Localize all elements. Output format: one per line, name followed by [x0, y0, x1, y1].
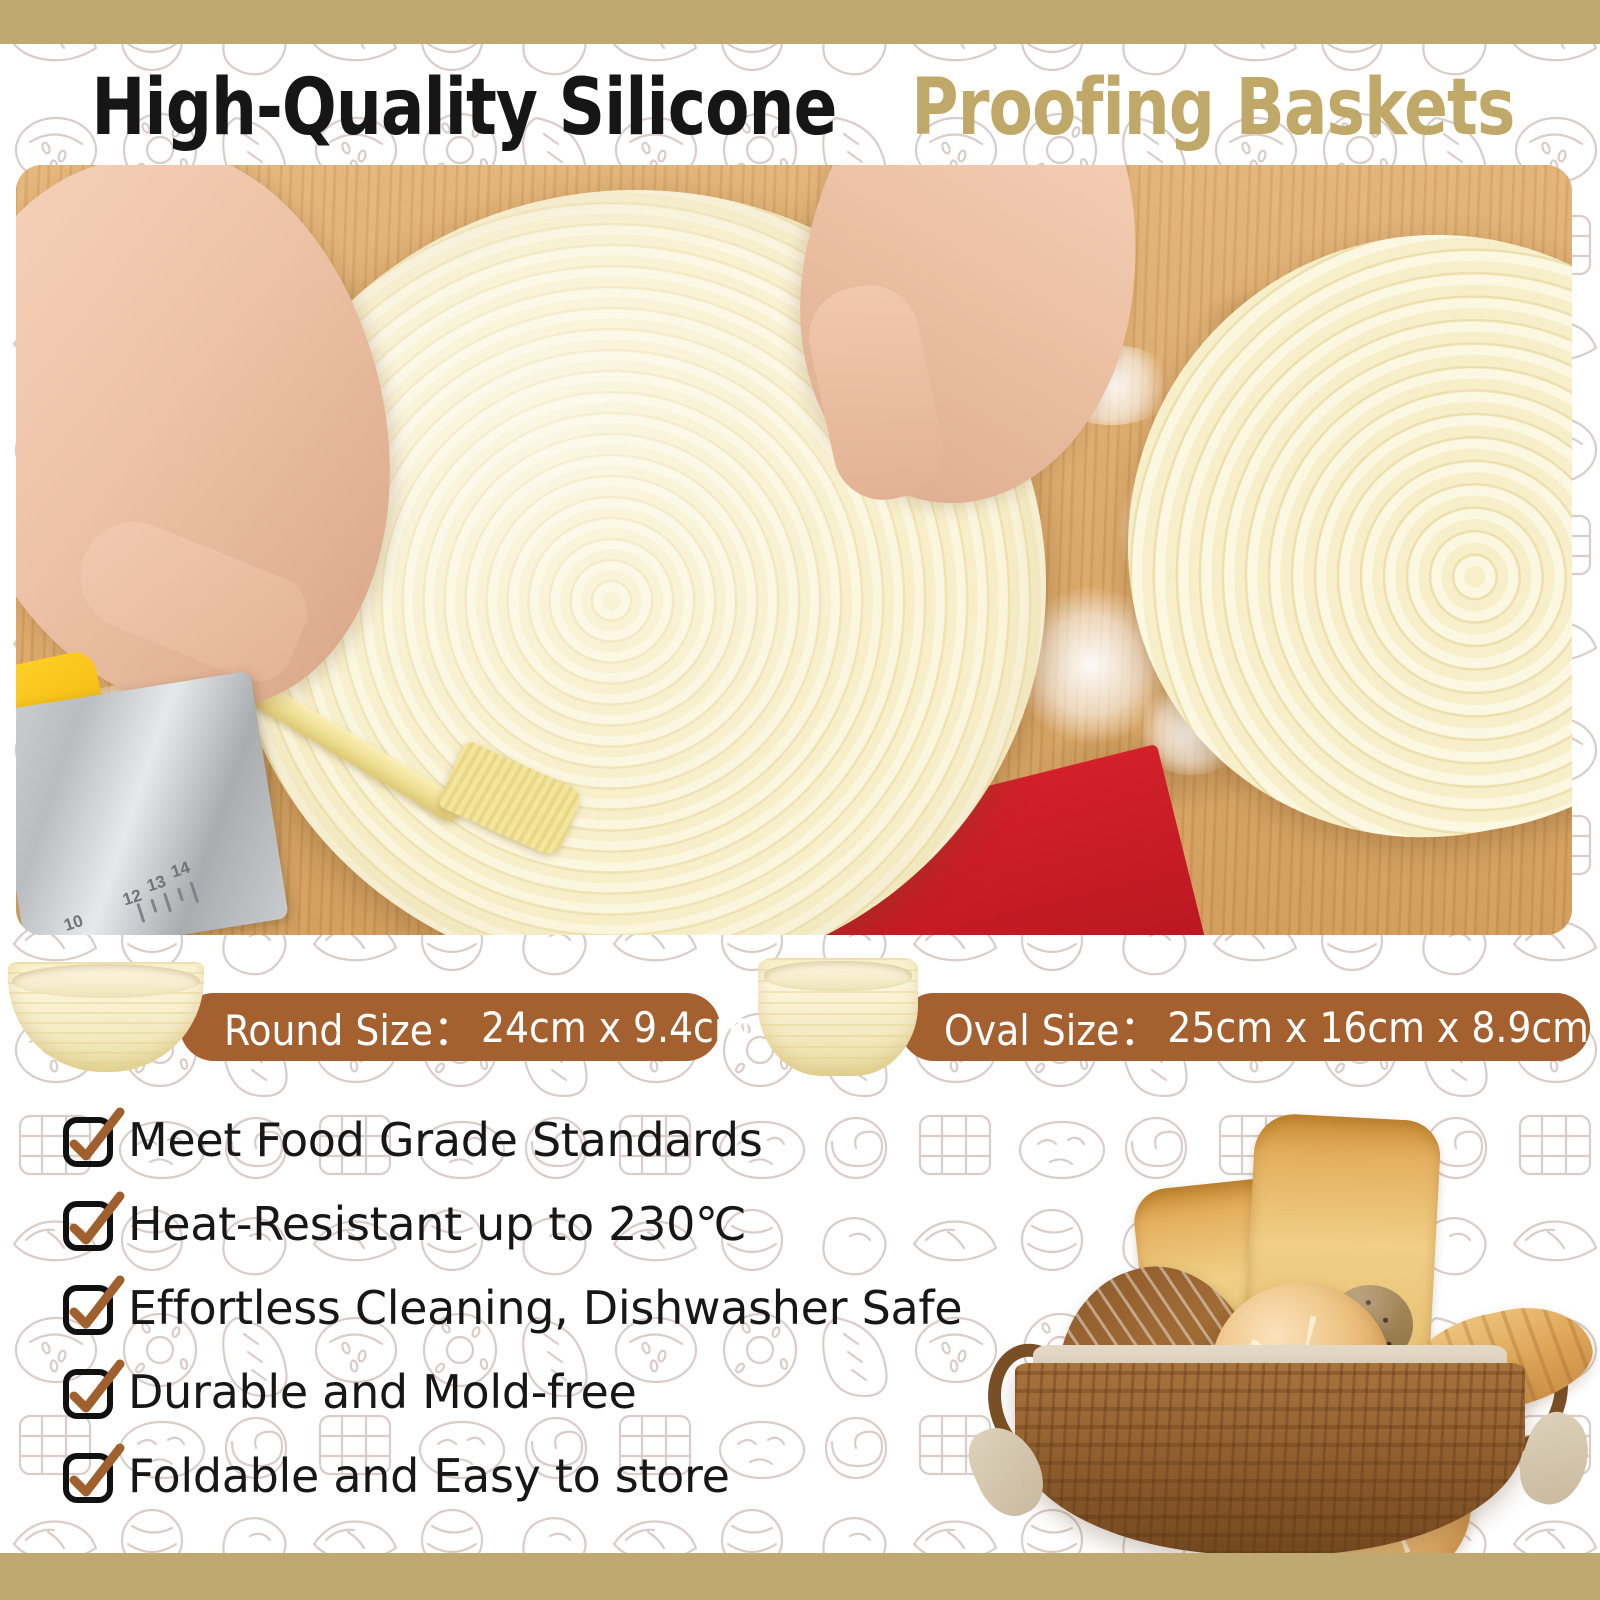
feature-item: Heat-Resistant up to 230℃: [62, 1182, 1022, 1266]
oval-size-label: Oval Size：: [944, 997, 1161, 1058]
round-size-label: Round Size：: [224, 997, 475, 1058]
title-accent: Proofing Baskets: [911, 69, 1514, 147]
feature-label: Effortless Cleaning, Dishwasher Safe: [128, 1285, 962, 1331]
basket-rim: [12, 964, 200, 998]
checkbox-check-icon: [62, 1366, 114, 1418]
feature-label: Durable and Mold-free: [128, 1369, 637, 1415]
feature-item: Durable and Mold-free: [62, 1350, 1022, 1434]
round-basket-illustration: [8, 962, 204, 1072]
scraper-tick: [189, 881, 199, 903]
scraper-tick: [163, 893, 172, 913]
round-size-value: 24cm x 9.4cm: [481, 1003, 751, 1052]
checkbox-check-icon: [62, 1198, 114, 1250]
basket-rim: [764, 961, 912, 991]
feature-item: Foldable and Easy to store: [62, 1434, 1022, 1518]
scraper-tick: [177, 887, 184, 901]
bottom-gold-bar: [0, 1553, 1600, 1600]
scraper-mark-14: 14: [169, 858, 193, 883]
checkbox-check-icon: [62, 1450, 114, 1502]
feature-item: Effortless Cleaning, Dishwasher Safe: [62, 1266, 1022, 1350]
feature-list: Meet Food Grade Standards Heat-Resistant…: [62, 1098, 1022, 1518]
oval-size-badge: Oval Size： 25cm x 16cm x 8.9cm: [900, 993, 1590, 1061]
hero-product-photo: 10 12 13 14: [16, 165, 1572, 935]
bench-scraper: 10 12 13 14: [16, 671, 289, 935]
oval-basket-illustration: [758, 958, 918, 1076]
feature-label: Heat-Resistant up to 230℃: [128, 1201, 746, 1247]
scraper-tick: [136, 903, 145, 923]
round-size-badge: Round Size： 24cm x 9.4cm: [180, 993, 720, 1061]
bread-basket-photo: [975, 1095, 1595, 1555]
checkbox-check-icon: [62, 1114, 114, 1166]
feature-label: Foldable and Easy to store: [128, 1453, 730, 1499]
page-title: High-Quality Silicone Proofing Baskets: [0, 58, 1600, 158]
oval-size-value: 25cm x 16cm x 8.9cm: [1167, 1003, 1589, 1052]
feature-item: Meet Food Grade Standards: [62, 1098, 1022, 1182]
title-primary: High-Quality Silicone: [92, 69, 837, 147]
feature-label: Meet Food Grade Standards: [128, 1117, 762, 1163]
scraper-tick: [150, 899, 157, 913]
scraper-mark-10: 10: [62, 911, 86, 935]
scraper-mark-12: 12: [120, 886, 144, 911]
top-gold-bar: [0, 0, 1600, 44]
checkbox-check-icon: [62, 1282, 114, 1334]
